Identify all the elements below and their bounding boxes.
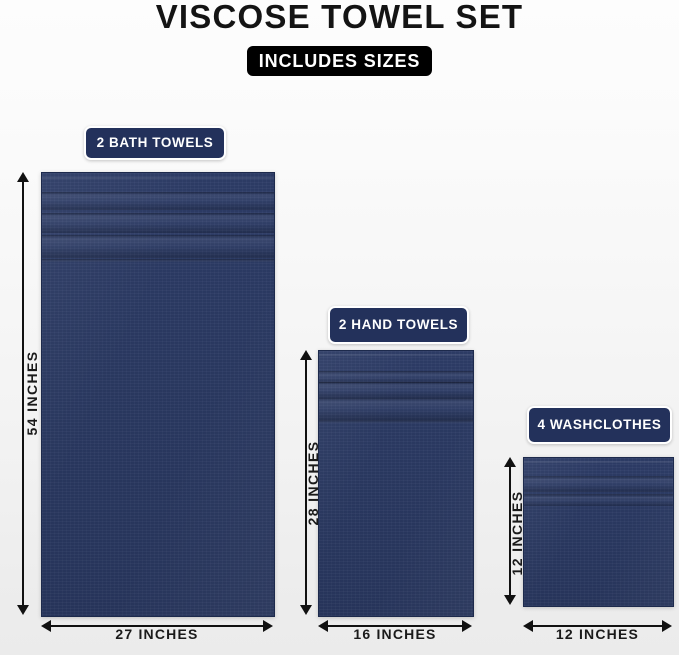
hand-towel-hem-edge (319, 354, 473, 356)
washcloth-band (524, 497, 673, 506)
bath-towel-width-label: 27 INCHES (41, 626, 273, 642)
arrow-up-icon (300, 350, 312, 360)
page-title: VISCOSE TOWEL SET (0, 0, 679, 36)
washcloth-width-label: 12 INCHES (523, 626, 672, 642)
hand-towel-label-text: 2 HAND TOWELS (339, 318, 458, 332)
bath-towel-hem-edge (42, 177, 274, 179)
arrow-down-icon (504, 595, 516, 605)
hand-towel-image (318, 350, 474, 617)
hand-towel-band (319, 385, 473, 398)
arrow-down-icon (17, 605, 29, 615)
arrow-up-icon (504, 457, 516, 467)
bath-towel-image (41, 172, 275, 617)
hand-towel-height-label: 28 INCHES (305, 433, 321, 533)
hand-towel-band (319, 420, 473, 423)
includes-sizes-badge: INCLUDES SIZES (247, 46, 432, 76)
bath-towel-band (42, 259, 274, 262)
washcloth-image (523, 457, 674, 607)
washcloth-label-pill: 4 WASHCLOTHES (527, 406, 672, 444)
washcloth-height-label: 12 INCHES (509, 483, 525, 583)
bath-towel-band (42, 238, 274, 258)
bath-towel-label-pill: 2 BATH TOWELS (84, 126, 226, 160)
bath-towel-label-text: 2 BATH TOWELS (97, 136, 214, 150)
bath-towel-band (42, 216, 274, 233)
bath-towel-band (42, 195, 274, 210)
hand-towel-width-label: 16 INCHES (318, 626, 472, 642)
hand-towel-label-pill: 2 HAND TOWELS (328, 306, 469, 344)
towel-size-infographic: VISCOSE TOWEL SET INCLUDES SIZES 2 BATH … (0, 0, 679, 655)
washcloth-label-text: 4 WASHCLOTHES (537, 418, 661, 432)
arrow-down-icon (300, 605, 312, 615)
washcloth-band (524, 479, 673, 492)
includes-sizes-badge-label: INCLUDES SIZES (259, 52, 421, 70)
bath-towel-height-label: 54 INCHES (24, 343, 40, 443)
hand-towel-band (319, 401, 473, 420)
arrow-up-icon (17, 172, 29, 182)
washcloth-hem-edge (524, 461, 673, 463)
